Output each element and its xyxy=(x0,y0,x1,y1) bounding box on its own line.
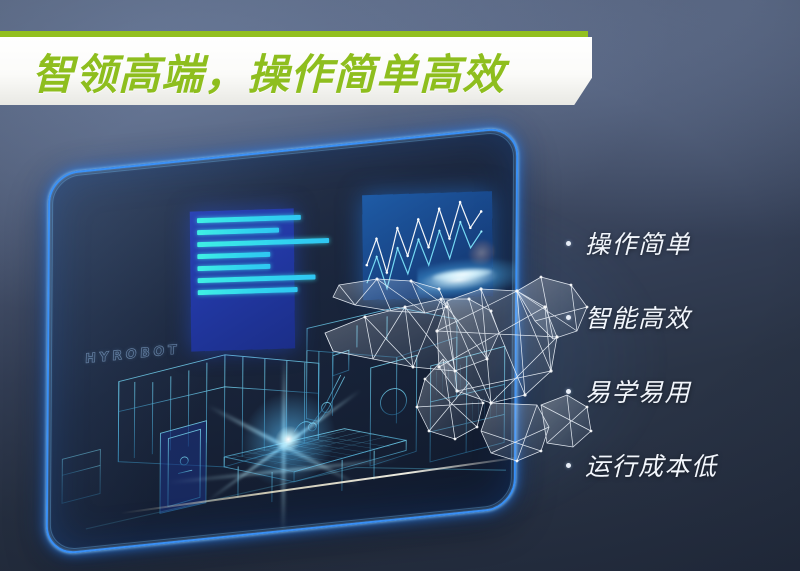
text-bar xyxy=(198,274,316,283)
feature-item-4: 运行成本低 xyxy=(566,428,794,502)
text-bar xyxy=(198,287,298,295)
text-bar xyxy=(197,264,270,271)
laser-spark xyxy=(228,373,349,505)
headline-banner: 智领高端，操作简单高效 xyxy=(0,31,592,105)
bullet-dot-icon xyxy=(566,389,571,394)
poster-stage: 智领高端，操作简单高效 HYROBOT xyxy=(0,0,800,571)
bullet-dot-icon xyxy=(566,463,571,468)
feature-label: 易学易用 xyxy=(585,373,691,409)
feature-item-3: 易学易用 xyxy=(566,354,794,428)
banner-accent-bar xyxy=(0,31,588,37)
bullet-dot-icon xyxy=(566,241,571,246)
feature-label: 智能高效 xyxy=(585,299,691,335)
text-bar xyxy=(197,215,301,223)
feature-label: 操作简单 xyxy=(585,225,691,261)
feature-list: 操作简单 智能高效 易学易用 运行成本低 xyxy=(566,206,794,502)
text-bar xyxy=(197,252,270,259)
page-title: 智领高端，操作简单高效 xyxy=(32,41,505,102)
text-bar xyxy=(197,228,279,236)
bullet-dot-icon xyxy=(566,315,571,320)
text-bar xyxy=(197,238,329,247)
feature-item-2: 智能高效 xyxy=(566,280,794,354)
feature-item-1: 操作简单 xyxy=(566,206,794,280)
feature-label: 运行成本低 xyxy=(585,447,718,483)
